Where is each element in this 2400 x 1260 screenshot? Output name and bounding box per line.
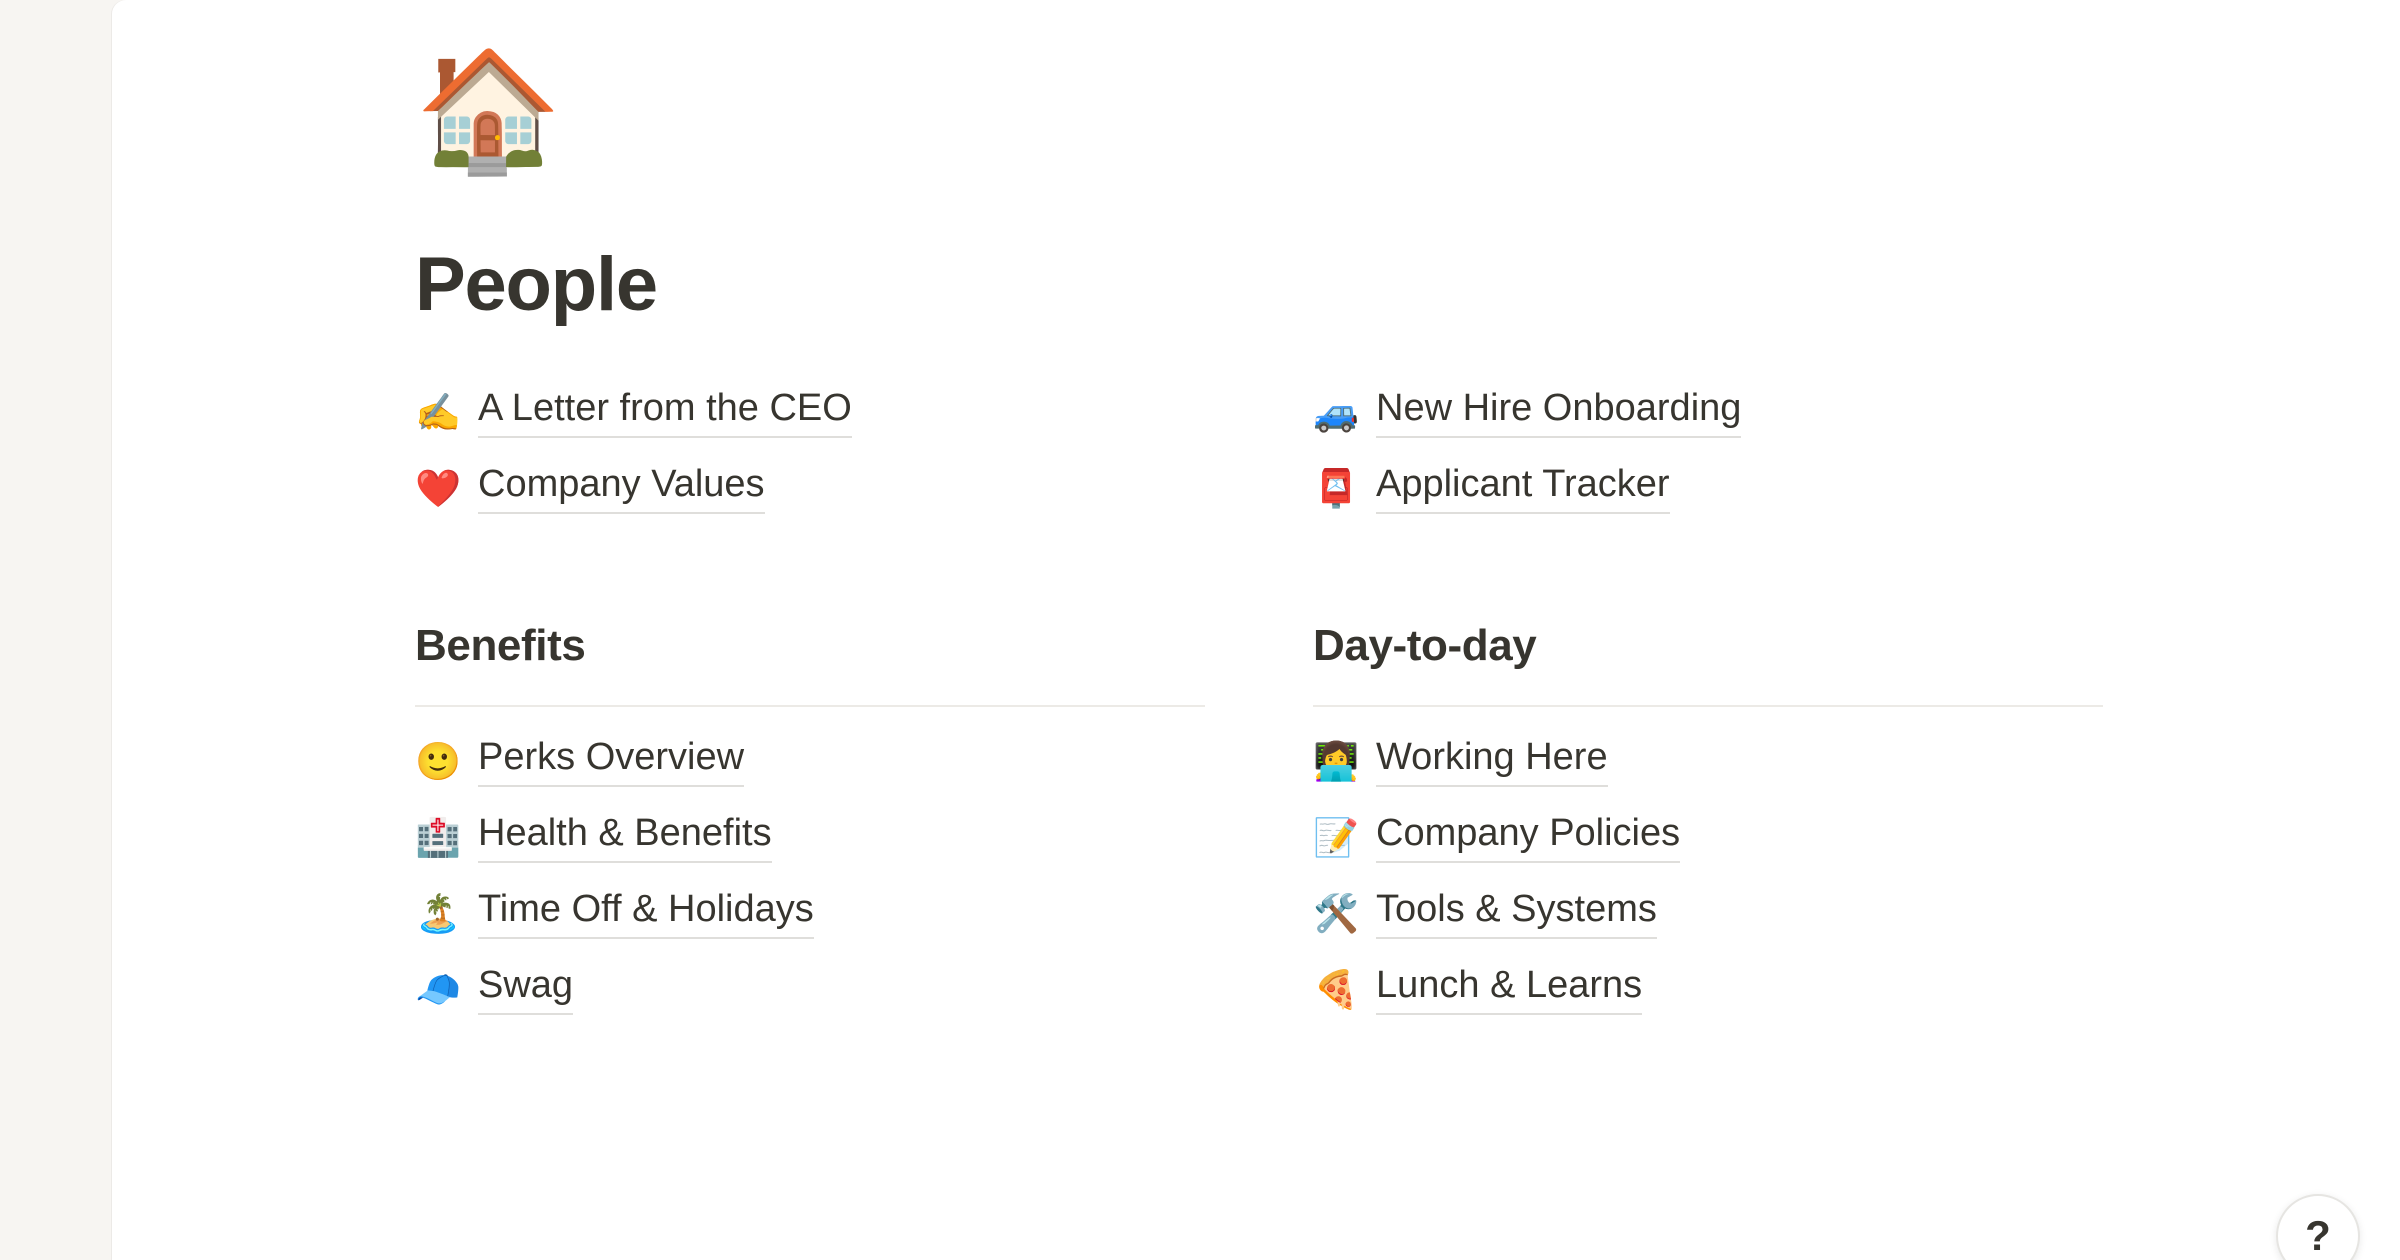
list-item[interactable]: 📮 Applicant Tracker	[1313, 450, 2103, 526]
link-list: ✍️ A Letter from the CEO ❤️ Company Valu…	[415, 374, 1205, 526]
list-item[interactable]: 🏝️ Time Off & Holidays	[415, 875, 1205, 951]
list-item[interactable]: ✍️ A Letter from the CEO	[415, 374, 1205, 450]
red-heart-icon: ❤️	[415, 470, 478, 507]
list-item[interactable]: 📝 Company Policies	[1313, 799, 2103, 875]
top-column-left: ✍️ A Letter from the CEO ❤️ Company Valu…	[415, 374, 1205, 526]
house-emoji-icon[interactable]: 🏠	[415, 48, 545, 178]
sidebar-rail[interactable]	[0, 0, 112, 1260]
section-day-to-day: Day-to-day 👩‍💻 Working Here 📝 Company Po…	[1313, 618, 2103, 1027]
list-item[interactable]: 🚙 New Hire Onboarding	[1313, 374, 2103, 450]
writing-hand-icon: ✍️	[415, 394, 478, 431]
list-item-label[interactable]: Tools & Systems	[1376, 887, 1657, 939]
billed-cap-icon: 🧢	[415, 971, 478, 1008]
list-item[interactable]: 👩‍💻 Working Here	[1313, 723, 2103, 799]
list-item-label[interactable]: Perks Overview	[478, 735, 744, 787]
link-list: 👩‍💻 Working Here 📝 Company Policies 🛠️ T…	[1313, 723, 2103, 1027]
section-columns: Benefits 🙂 Perks Overview 🏥 Health & Ben…	[415, 618, 2101, 1027]
page-title: People	[415, 244, 2400, 326]
desert-island-icon: 🏝️	[415, 895, 478, 932]
list-item[interactable]: 🙂 Perks Overview	[415, 723, 1205, 799]
content-panel: 🏠 People ✍️ A Letter from the CEO ❤️ Com…	[112, 0, 2400, 1260]
list-item-label[interactable]: A Letter from the CEO	[478, 386, 852, 438]
list-item-label[interactable]: Working Here	[1376, 735, 1608, 787]
woman-technologist-icon: 👩‍💻	[1313, 743, 1376, 780]
list-item-label[interactable]: Company Policies	[1376, 811, 1680, 863]
list-item[interactable]: 🏥 Health & Benefits	[415, 799, 1205, 875]
hospital-icon: 🏥	[415, 819, 478, 856]
page-body: 🏠 People ✍️ A Letter from the CEO ❤️ Com…	[112, 48, 2400, 1027]
list-item-label[interactable]: Lunch & Learns	[1376, 963, 1642, 1015]
help-button[interactable]: ?	[2276, 1194, 2360, 1260]
hammer-and-wrench-icon: 🛠️	[1313, 895, 1376, 932]
memo-icon: 📝	[1313, 819, 1376, 856]
section-divider	[1313, 705, 2103, 707]
list-item-label[interactable]: Health & Benefits	[478, 811, 772, 863]
car-icon: 🚙	[1313, 394, 1376, 431]
list-item[interactable]: 🍕 Lunch & Learns	[1313, 951, 2103, 1027]
list-item-label[interactable]: Swag	[478, 963, 573, 1015]
top-link-columns: ✍️ A Letter from the CEO ❤️ Company Valu…	[415, 374, 2101, 526]
list-item-label[interactable]: Company Values	[478, 462, 765, 514]
list-item[interactable]: 🧢 Swag	[415, 951, 1205, 1027]
pizza-icon: 🍕	[1313, 971, 1376, 1008]
list-item-label[interactable]: Time Off & Holidays	[478, 887, 814, 939]
section-heading: Day-to-day	[1313, 618, 2103, 673]
section-heading: Benefits	[415, 618, 1205, 673]
list-item-label[interactable]: Applicant Tracker	[1376, 462, 1670, 514]
slightly-smiling-face-icon: 🙂	[415, 743, 478, 780]
link-list: 🙂 Perks Overview 🏥 Health & Benefits 🏝️ …	[415, 723, 1205, 1027]
section-benefits: Benefits 🙂 Perks Overview 🏥 Health & Ben…	[415, 618, 1205, 1027]
app-window: 🏠 People ✍️ A Letter from the CEO ❤️ Com…	[0, 0, 2400, 1260]
list-item[interactable]: ❤️ Company Values	[415, 450, 1205, 526]
top-column-right: 🚙 New Hire Onboarding 📮 Applicant Tracke…	[1313, 374, 2103, 526]
postbox-icon: 📮	[1313, 470, 1376, 507]
list-item-label[interactable]: New Hire Onboarding	[1376, 386, 1741, 438]
section-divider	[415, 705, 1205, 707]
link-list: 🚙 New Hire Onboarding 📮 Applicant Tracke…	[1313, 374, 2103, 526]
list-item[interactable]: 🛠️ Tools & Systems	[1313, 875, 2103, 951]
